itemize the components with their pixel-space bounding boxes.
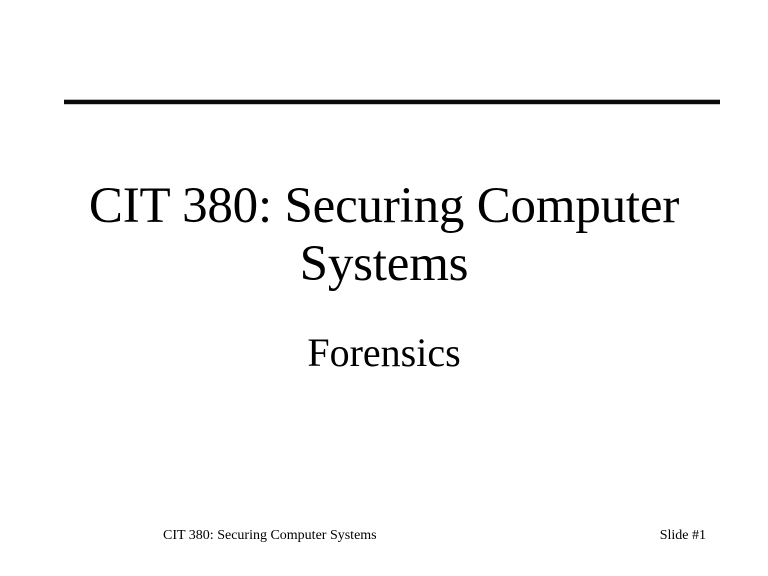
title-placeholder: CIT 380: Securing Computer Systems: [50, 178, 718, 293]
footer-slide-number: Slide #1: [660, 528, 706, 544]
slide-title: CIT 380: Securing Computer Systems: [50, 178, 718, 293]
rule-shadow: [64, 104, 720, 105]
slide-footer: CIT 380: Securing Computer Systems Slide…: [0, 528, 768, 552]
header-divider-rule: [64, 99, 720, 105]
footer-course-label: CIT 380: Securing Computer Systems: [163, 528, 377, 544]
slide-subtitle: Forensics: [50, 330, 718, 376]
subtitle-placeholder: Forensics: [50, 330, 718, 376]
slide-canvas: CIT 380: Securing Computer Systems Foren…: [0, 0, 768, 576]
